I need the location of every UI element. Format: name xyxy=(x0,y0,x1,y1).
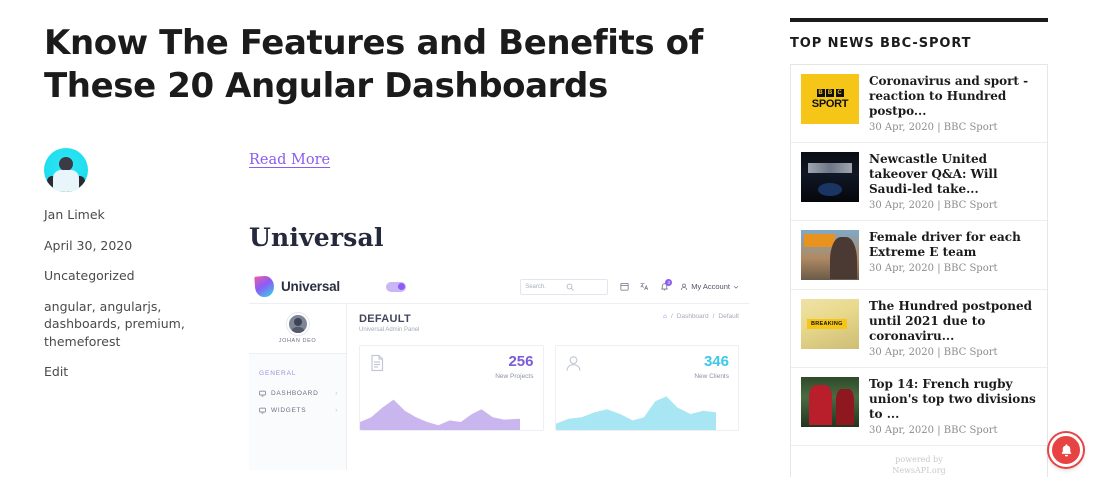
stat-card-new-projects: 256 New Projects xyxy=(359,345,544,431)
page-title: Know The Features and Benefits of These … xyxy=(44,22,704,108)
article-column: Know The Features and Benefits of These … xyxy=(0,0,790,477)
stat-label: New Projects xyxy=(495,373,533,380)
news-title[interactable]: The Hundred postponed until 2021 due to … xyxy=(869,299,1038,344)
news-text: Female driver for each Extreme E team 30… xyxy=(869,230,1038,280)
chevron-down-icon xyxy=(733,284,739,290)
stat-card-header: 256 New Projects xyxy=(369,354,534,380)
news-meta: 30 Apr, 2020 | BBC Sport xyxy=(869,425,1038,436)
news-text: Newcastle United takeover Q&A: Will Saud… xyxy=(869,152,1038,211)
news-text: The Hundred postponed until 2021 due to … xyxy=(869,299,1038,358)
user-icon xyxy=(680,283,688,291)
breadcrumb-item-default: Default xyxy=(718,313,739,320)
dashboard-brand: Universal xyxy=(255,276,370,297)
bbc-sport-logo-icon: BBC SPORT xyxy=(801,74,859,124)
read-more-link[interactable]: Read More xyxy=(249,152,330,168)
notification-fab-button[interactable] xyxy=(1049,433,1083,467)
search-placeholder-text: Search. xyxy=(525,284,563,290)
stat-card-header: 346 New Clients xyxy=(565,354,730,380)
dashboard-body: JOHAN DEO GENERAL DASHBOARD › xyxy=(249,304,749,470)
dashboard-profile: JOHAN DEO xyxy=(249,304,346,354)
profile-avatar xyxy=(287,313,309,335)
stat-cards: 256 New Projects xyxy=(359,345,739,431)
breadcrumb-separator: / xyxy=(713,313,715,320)
breadcrumb: ⌂ / Dashboard / Default xyxy=(663,313,739,320)
news-thumbnail: BREAKING xyxy=(801,299,859,349)
dashboard-preview-image: Universal Search. xyxy=(249,270,749,470)
section-heading: Universal xyxy=(249,223,790,252)
notification-badge: 3 xyxy=(665,279,672,286)
dashboard-sidebar: JOHAN DEO GENERAL DASHBOARD › xyxy=(249,304,347,470)
news-meta: 30 Apr, 2020 | BBC Sport xyxy=(869,200,1038,211)
post-tags[interactable]: angular, angularjs, dashboards, premium,… xyxy=(44,298,194,351)
sidebar-item-label: WIDGETS xyxy=(271,407,306,414)
page-root: Know The Features and Benefits of These … xyxy=(0,0,1100,477)
document-icon xyxy=(369,354,385,377)
dashboard-page-title: DEFAULT xyxy=(359,313,419,325)
notifications-icon[interactable]: 3 xyxy=(660,282,669,291)
profile-name: JOHAN DEO xyxy=(279,338,317,344)
news-text: Top 14: French rugby union's top two div… xyxy=(869,377,1038,436)
news-thumbnail xyxy=(801,377,859,427)
news-widget: BBC SPORT Coronavirus and sport - reacti… xyxy=(790,64,1048,477)
stat-card-figure: 346 New Clients xyxy=(694,354,729,380)
search-icon xyxy=(566,283,604,291)
post-author[interactable]: Jan Limek xyxy=(44,206,194,224)
user-icon xyxy=(565,354,582,377)
news-meta: 30 Apr, 2020 | BBC Sport xyxy=(869,347,1038,358)
monitor-icon xyxy=(259,407,266,414)
universal-logo-icon xyxy=(254,275,274,297)
powered-by-line1: powered by xyxy=(791,454,1047,465)
news-text: Coronavirus and sport - reaction to Hund… xyxy=(869,74,1038,133)
news-title[interactable]: Coronavirus and sport - reaction to Hund… xyxy=(869,74,1038,119)
divider xyxy=(790,18,1048,22)
list-item[interactable]: Top 14: French rugby union's top two div… xyxy=(791,368,1047,446)
account-menu[interactable]: My Account xyxy=(680,282,739,291)
dashboard-topbar: Universal Search. xyxy=(249,270,749,304)
account-label: My Account xyxy=(691,282,730,291)
topbar-icons: 3 My Account xyxy=(620,282,739,291)
language-icon[interactable] xyxy=(640,282,649,291)
post-date: April 30, 2020 xyxy=(44,237,194,255)
sidebar-item-label: DASHBOARD xyxy=(271,390,318,397)
widget-title: TOP NEWS BBC-SPORT xyxy=(790,36,1070,51)
monitor-icon xyxy=(259,390,266,397)
post-meta: Jan Limek April 30, 2020 Uncategorized a… xyxy=(44,144,244,470)
dashboard-page-header: DEFAULT Universal Admin Panel ⌂ / Dashbo… xyxy=(359,313,739,333)
news-title[interactable]: Newcastle United takeover Q&A: Will Saud… xyxy=(869,152,1038,197)
stat-value: 256 xyxy=(495,354,533,369)
article-body: Jan Limek April 30, 2020 Uncategorized a… xyxy=(44,144,790,470)
stat-card-new-clients: 346 New Clients xyxy=(555,345,740,431)
list-item[interactable]: BREAKING The Hundred postponed until 202… xyxy=(791,290,1047,368)
stat-label: New Clients xyxy=(694,373,729,380)
chevron-right-icon: › xyxy=(335,408,338,414)
calendar-icon[interactable] xyxy=(620,282,629,291)
dashboard-main: DEFAULT Universal Admin Panel ⌂ / Dashbo… xyxy=(347,304,749,470)
bell-icon xyxy=(1059,443,1074,458)
edit-link[interactable]: Edit xyxy=(44,363,194,381)
list-item[interactable]: Female driver for each Extreme E team 30… xyxy=(791,221,1047,290)
search-input[interactable]: Search. xyxy=(520,279,608,295)
news-meta: 30 Apr, 2020 | BBC Sport xyxy=(869,122,1038,133)
breaking-badge: BREAKING xyxy=(807,319,847,329)
news-meta: 30 Apr, 2020 | BBC Sport xyxy=(869,263,1038,274)
stat-card-area-chart xyxy=(556,390,716,430)
dashboard-page-subtitle: Universal Admin Panel xyxy=(359,327,419,333)
stat-card-figure: 256 New Projects xyxy=(495,354,533,380)
post-category[interactable]: Uncategorized xyxy=(44,267,194,285)
news-title[interactable]: Top 14: French rugby union's top two div… xyxy=(869,377,1038,422)
stat-card-area-chart xyxy=(360,390,520,430)
sidebar-toggle-switch[interactable] xyxy=(386,282,406,292)
news-title[interactable]: Female driver for each Extreme E team xyxy=(869,230,1038,260)
breadcrumb-separator: / xyxy=(671,313,673,320)
list-item[interactable]: BBC SPORT Coronavirus and sport - reacti… xyxy=(791,65,1047,143)
sidebar-item-dashboard[interactable]: DASHBOARD › xyxy=(249,385,346,402)
sidebar-column: TOP NEWS BBC-SPORT BBC SPORT Coronavirus… xyxy=(790,0,1100,477)
menu-group-label: GENERAL xyxy=(249,354,346,385)
avatar xyxy=(44,148,88,192)
stat-value: 346 xyxy=(694,354,729,369)
dashboard-brand-label: Universal xyxy=(281,279,340,294)
powered-by: powered by NewsAPI.org xyxy=(791,446,1047,477)
home-icon[interactable]: ⌂ xyxy=(663,313,667,320)
list-item[interactable]: Newcastle United takeover Q&A: Will Saud… xyxy=(791,143,1047,221)
breadcrumb-item-dashboard[interactable]: Dashboard xyxy=(677,313,709,320)
news-thumbnail xyxy=(801,152,859,202)
powered-by-line2[interactable]: NewsAPI.org xyxy=(791,465,1047,476)
chevron-right-icon: › xyxy=(335,391,338,397)
news-thumbnail xyxy=(801,230,859,280)
post-content: Read More Universal Universal Search. xyxy=(244,144,790,470)
sidebar-item-widgets[interactable]: WIDGETS › xyxy=(249,402,346,419)
